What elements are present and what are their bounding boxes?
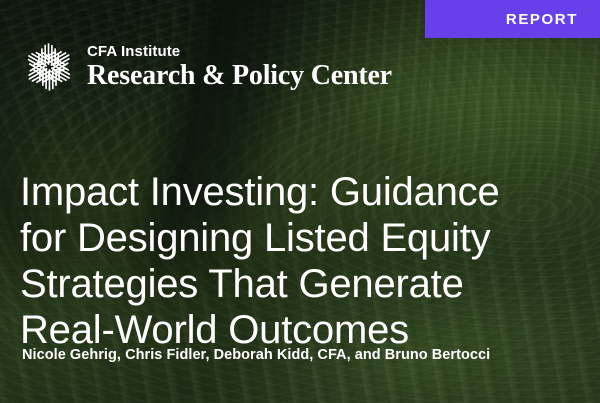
report-type-badge: REPORT: [425, 0, 600, 38]
cfa-institute-logo-lockup: CFA Institute Research & Policy Center: [22, 40, 392, 94]
report-type-badge-label: REPORT: [506, 11, 578, 28]
page-title-line-1: Impact Investing: Guidance: [20, 169, 600, 215]
page-title-line-2: for Designing Listed Equity: [20, 215, 600, 261]
logo-wordmark: CFA Institute Research & Policy Center: [87, 44, 392, 90]
cfa-pinwheel-logo-icon: [22, 40, 76, 94]
report-cover: REPORT: [0, 0, 600, 403]
logo-organization-name: CFA Institute: [87, 44, 392, 59]
page-title-line-3: Strategies That Generate: [20, 261, 600, 307]
page-title-line-4: Real-World Outcomes: [20, 307, 600, 353]
author-byline: Nicole Gehrig, Chris Fidler, Deborah Kid…: [22, 347, 490, 363]
logo-division-name: Research & Policy Center: [87, 62, 392, 90]
page-title: Impact Investing: Guidance for Designing…: [20, 169, 600, 353]
